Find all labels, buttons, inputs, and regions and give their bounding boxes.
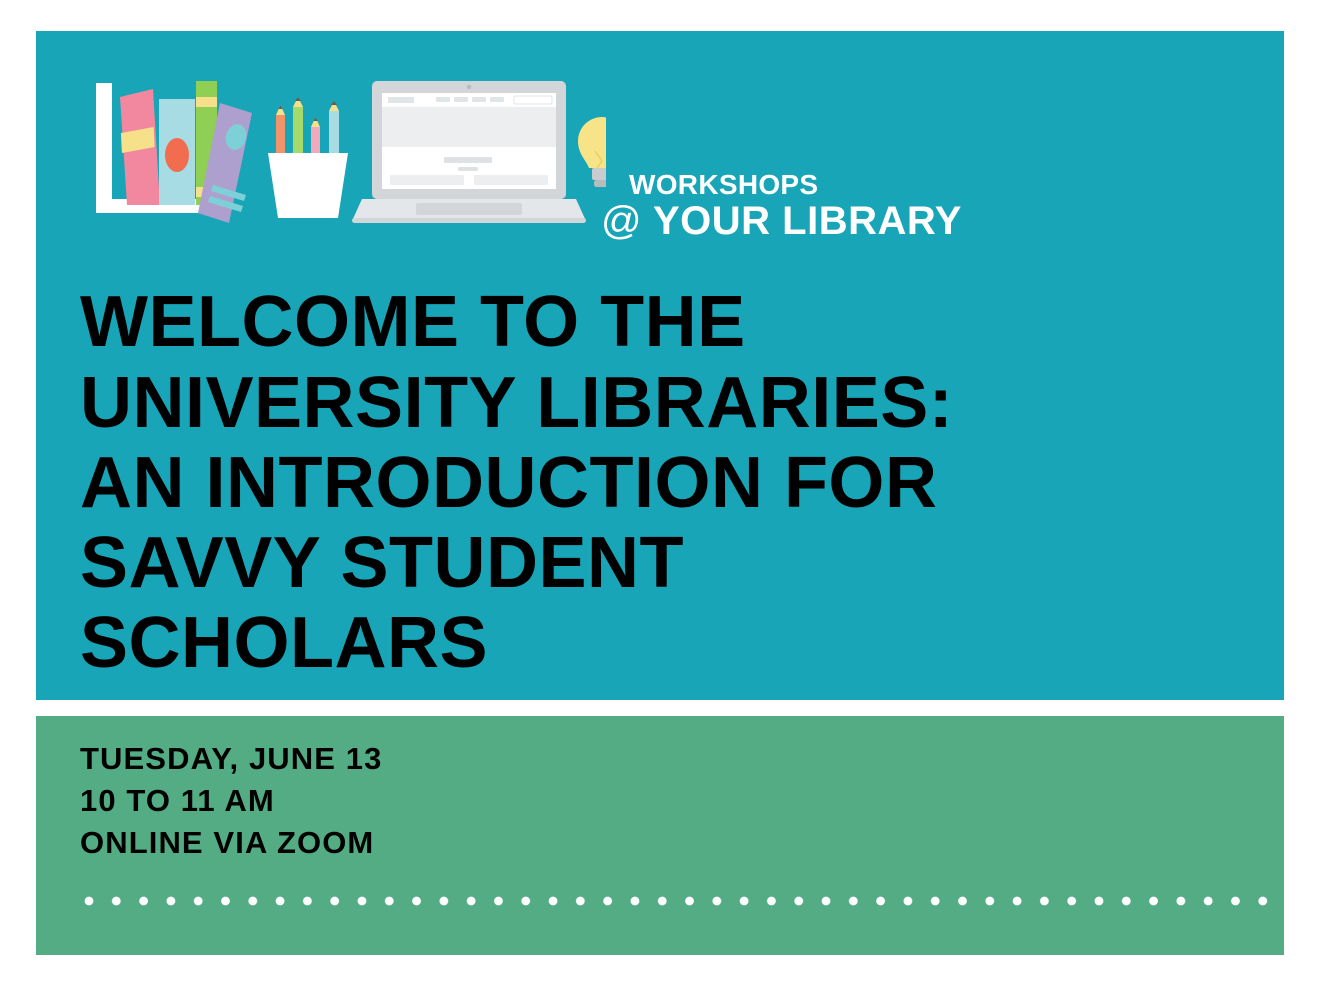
title-line-1: WELCOME TO THE xyxy=(80,282,1210,362)
book-pink-icon xyxy=(120,89,160,205)
brand-block: WORKSHOPS @ YOUR LIBRARY xyxy=(86,75,1056,230)
at-sign-label: @ xyxy=(601,199,642,243)
wordmark: WORKSHOPS @ YOUR LIBRARY xyxy=(601,171,962,241)
title-line-2: UNIVERSITY LIBRARIES: xyxy=(80,363,1210,443)
wordmark-bottom-label: @ YOUR LIBRARY xyxy=(601,201,962,241)
title-line-3: AN INTRODUCTION FOR xyxy=(80,443,1210,523)
event-details-panel: TUESDAY, JUNE 13 10 TO 11 AM ONLINE VIA … xyxy=(36,716,1284,955)
workshops-illustration xyxy=(86,75,606,230)
laptop-icon xyxy=(352,81,586,223)
wordmark-top-label: WORKSHOPS xyxy=(629,171,962,199)
title-line-4: SAVVY STUDENT xyxy=(80,523,1210,603)
hero-panel: WORKSHOPS @ YOUR LIBRARY WELCOME TO THE … xyxy=(36,31,1284,700)
pencil-cup-icon xyxy=(268,97,348,218)
dotted-divider xyxy=(82,894,1284,908)
event-time: 10 TO 11 AM xyxy=(80,780,382,822)
page-title: WELCOME TO THE UNIVERSITY LIBRARIES: AN … xyxy=(80,282,1210,683)
event-date: TUESDAY, JUNE 13 xyxy=(80,738,382,780)
book-blue-icon xyxy=(159,99,195,205)
title-line-5: SCHOLARS xyxy=(80,603,1210,683)
your-library-label: YOUR LIBRARY xyxy=(653,199,962,243)
event-details-list: TUESDAY, JUNE 13 10 TO 11 AM ONLINE VIA … xyxy=(80,738,382,864)
event-location: ONLINE VIA ZOOM xyxy=(80,822,382,864)
